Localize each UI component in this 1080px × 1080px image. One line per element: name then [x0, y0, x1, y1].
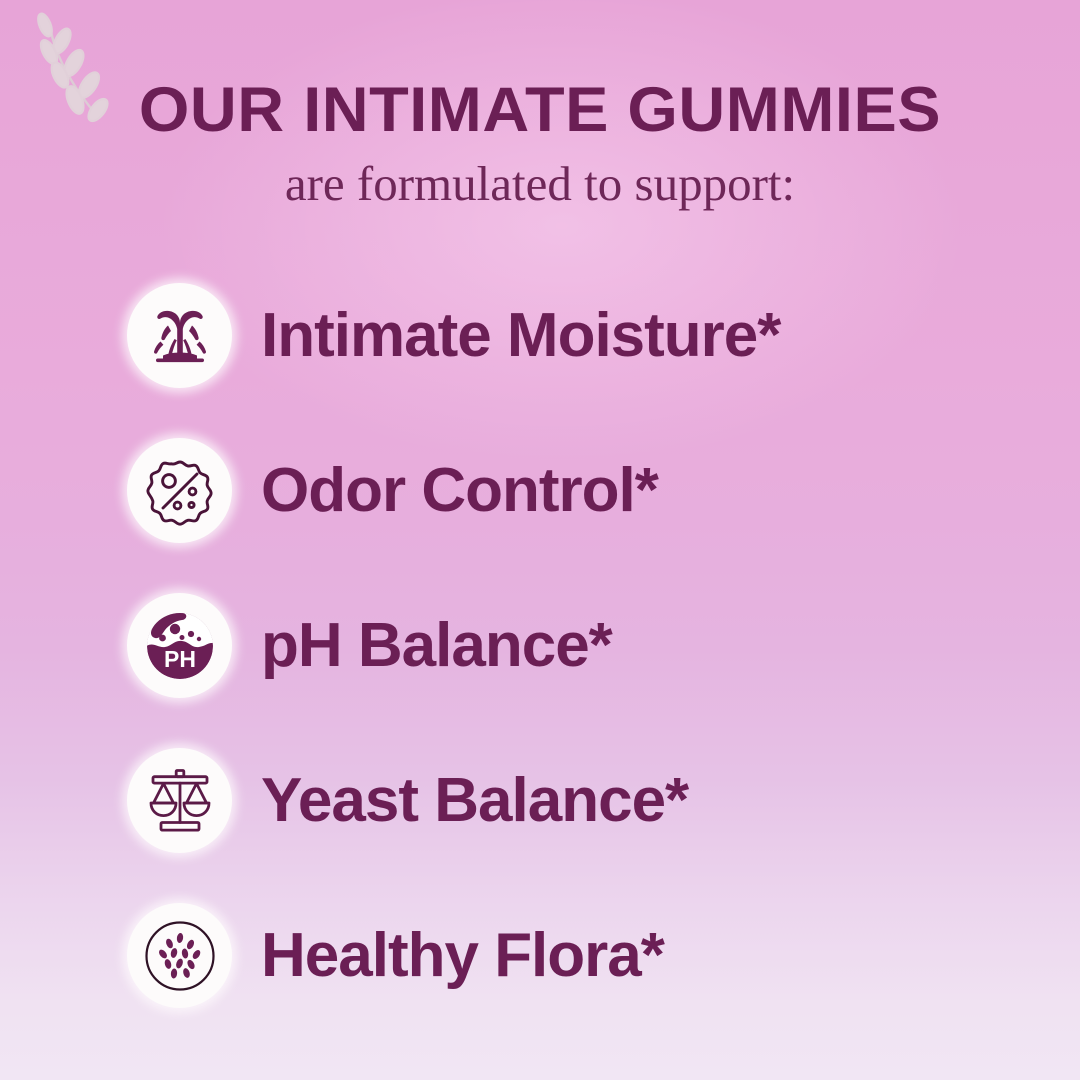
benefit-row: Yeast Balance*	[0, 748, 1080, 853]
benefit-label: Odor Control*	[261, 460, 658, 522]
benefit-icon-badge: PH	[127, 593, 232, 698]
benefit-label: Intimate Moisture*	[261, 305, 780, 367]
benefit-icon-badge	[127, 283, 232, 388]
header: OUR INTIMATE GUMMIES are formulated to s…	[0, 78, 1080, 209]
balance-scale-icon	[141, 762, 219, 840]
benefit-icon-badge	[127, 748, 232, 853]
svg-text:PH: PH	[164, 646, 196, 672]
benefit-label: Yeast Balance*	[261, 770, 688, 832]
benefit-icon-badge	[127, 903, 232, 1008]
petri-dish-icon	[141, 917, 219, 995]
benefit-row: Odor Control*	[0, 438, 1080, 543]
benefit-label: Healthy Flora*	[261, 925, 664, 987]
page-subtitle: are formulated to support:	[0, 158, 1080, 209]
scalloped-percent-icon	[141, 452, 219, 530]
benefits-list: Intimate Moisture* Odor Control*	[0, 283, 1080, 1058]
infographic-card: OUR INTIMATE GUMMIES are formulated to s…	[0, 0, 1080, 1080]
ph-droplet-icon: PH	[141, 607, 219, 685]
benefit-icon-badge	[127, 438, 232, 543]
benefit-row: Healthy Flora*	[0, 903, 1080, 1008]
fountain-spray-icon	[141, 297, 219, 375]
benefit-row: Intimate Moisture*	[0, 283, 1080, 388]
page-title: OUR INTIMATE GUMMIES	[0, 78, 1080, 144]
benefit-row: PH pH Balance*	[0, 593, 1080, 698]
benefit-label: pH Balance*	[261, 615, 612, 677]
